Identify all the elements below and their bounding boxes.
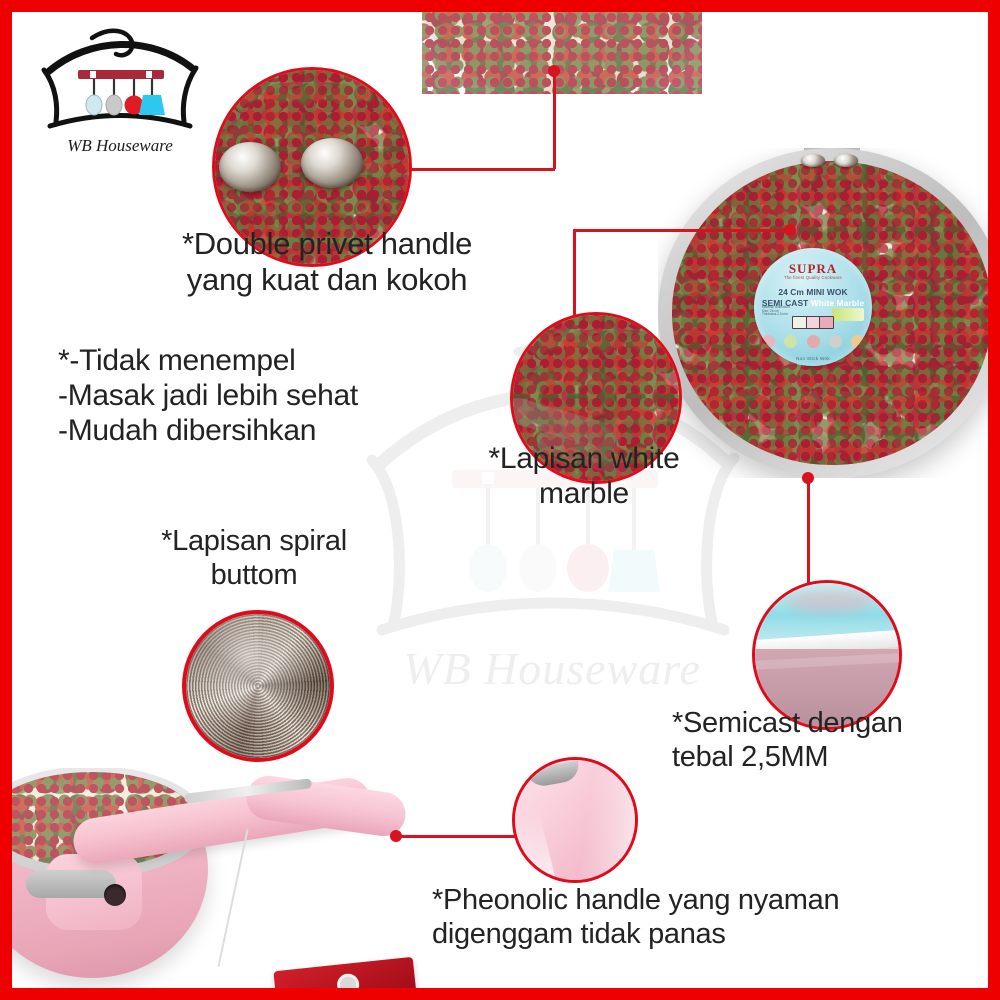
watermark-text: WB Houseware [342, 642, 762, 695]
handle-collar [26, 870, 116, 898]
connector-line-rivet-h [392, 168, 555, 171]
product-photo-top-rivets [422, 0, 702, 94]
rivet-closeup-right [301, 138, 363, 188]
connector-line-marble-h [573, 229, 791, 232]
hang-tag-eyelet-icon [336, 973, 360, 997]
color-swatches-icon [792, 316, 834, 329]
pan-body [422, 0, 702, 94]
hang-tag-string [217, 829, 248, 966]
connector-line-marble-v [573, 229, 576, 316]
hang-tag-text: Punya Warna [277, 992, 417, 1000]
connector-line-handle-h [396, 835, 518, 838]
caption-phenolic-handle: *Pheonolic handle yang nyaman digenggam … [432, 884, 962, 951]
handle-hanging-hole [104, 884, 126, 906]
callout-phenolic-handle-icon [512, 757, 638, 883]
rivet-right [834, 154, 858, 167]
infographic-canvas: WB Houseware WB Houseware [0, 0, 1000, 1000]
brand-logo: WB Houseware [30, 24, 210, 174]
hang-tag: Punya Warna [273, 957, 418, 1000]
sticker-tagline: The finest Quality Cookware [754, 275, 872, 280]
caption-semicast-thickness: *Semicast dengan tebal 2,5MM [672, 707, 972, 774]
product-photo-pink-wok: Punya Warna [0, 768, 446, 1000]
product-photo-main-wok: SUPRA The finest Quality Cookware 24 Cm … [658, 148, 1000, 478]
connector-line-thick-v [807, 478, 810, 584]
caption-nonstick-benefits: *-Tidak menempel -Masak jadi lebih sehat… [58, 344, 488, 448]
brand-logo-text: WB Houseware [30, 136, 210, 156]
connector-line-rivet-v2 [553, 71, 556, 169]
eco-badge-icon [832, 308, 864, 321]
caption-spiral-bottom: *Lapisan spiral buttom [124, 525, 384, 592]
product-label-sticker: SUPRA The finest Quality Cookware 24 Cm … [754, 248, 872, 366]
rivet-closeup-left [219, 142, 281, 192]
rivet-left [801, 154, 825, 167]
caption-double-rivet: *Double privet handle yang kuat dan koko… [112, 226, 542, 298]
sticker-spec-lines: Material: Aluminium Size: 24 cm Thicknes… [762, 306, 792, 322]
caption-white-marble: *Lapisan white marble [450, 442, 718, 512]
callout-spiral-bottom-icon [182, 610, 334, 762]
sticker-footer: Non Stick Wok [754, 356, 872, 361]
feature-icons-row [762, 334, 864, 349]
sticker-line1: 24 Cm MINI WOK [754, 287, 872, 297]
